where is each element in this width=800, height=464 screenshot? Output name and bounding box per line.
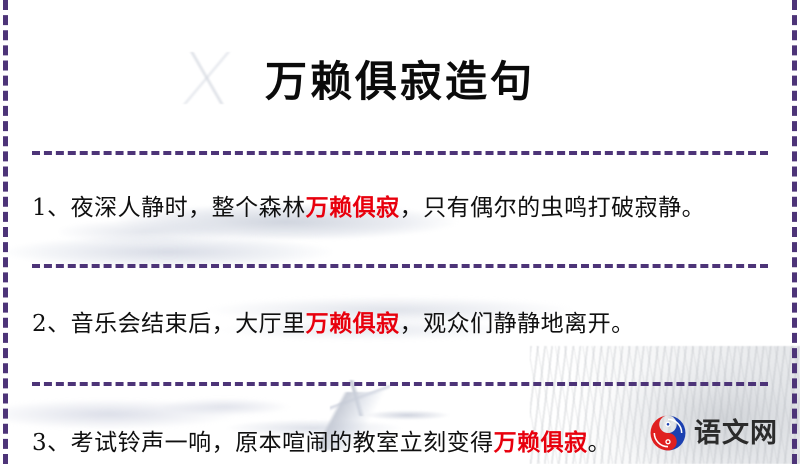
site-logo[interactable]: 语文网	[649, 414, 778, 452]
keyword-highlight-1: 万赖俱寂	[306, 194, 400, 221]
sentence-text-before-2: 音乐会结束后，大厅里	[71, 311, 306, 337]
keyword-highlight-3: 万赖俱寂	[494, 429, 588, 456]
site-logo-text: 语文网	[694, 420, 778, 447]
sentence-index-3: 3、	[32, 430, 71, 456]
sentence-index-1: 1、	[32, 195, 71, 221]
sentence-text-before-1: 夜深人静时，整个森林	[71, 195, 306, 221]
worksheet-page: 万赖俱寂造句 1、夜深人静时，整个森林万赖俱寂，只有偶尔的虫鸣打破寂静。 2、音…	[0, 0, 800, 464]
sentence-item-1: 1、夜深人静时，整个森林万赖俱寂，只有偶尔的虫鸣打破寂静。	[18, 178, 782, 241]
divider-middle-1	[32, 264, 768, 268]
page-content: 万赖俱寂造句 1、夜深人静时，整个森林万赖俱寂，只有偶尔的虫鸣打破寂静。 2、音…	[0, 28, 800, 464]
taiji-yin-yang-icon	[649, 414, 687, 452]
keyword-highlight-2: 万赖俱寂	[306, 310, 400, 337]
page-title: 万赖俱寂造句	[18, 28, 782, 123]
divider-middle-2	[32, 382, 768, 386]
divider-top	[32, 151, 768, 155]
sentence-text-after-3: 。	[588, 430, 612, 456]
sentence-text-after-1: ，只有偶尔的虫鸣打破寂静。	[400, 195, 706, 221]
sentence-text-before-3: 考试铃声一响，原本喧闹的教室立刻变得	[71, 430, 494, 456]
sentence-index-2: 2、	[32, 311, 71, 337]
sentence-item-2: 2、音乐会结束后，大厅里万赖俱寂，观众们静静地离开。	[18, 291, 782, 359]
sentence-text-after-2: ，观众们静静地离开。	[400, 311, 635, 337]
